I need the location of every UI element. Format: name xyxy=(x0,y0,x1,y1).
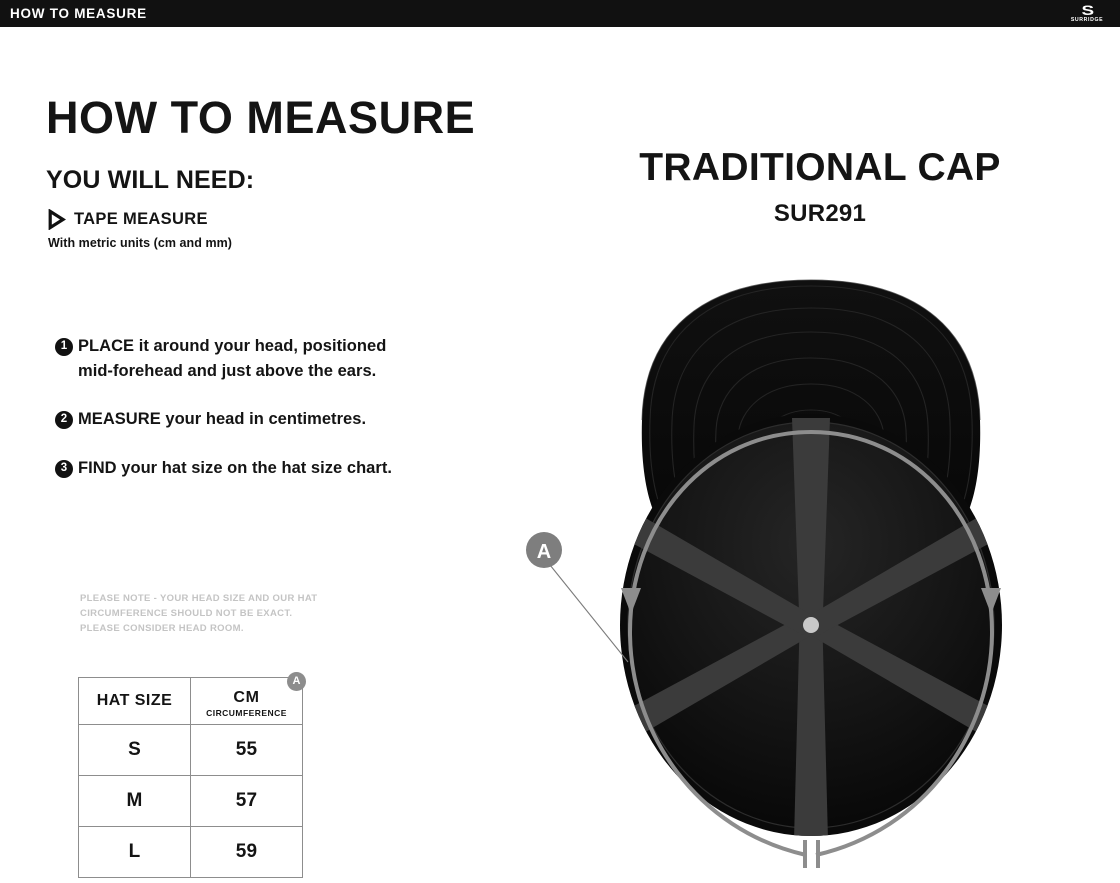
column-header-hat-size: HAT SIZE xyxy=(79,678,191,725)
table-header-row: HAT SIZE CM CIRCUMFERENCE A xyxy=(79,678,303,725)
hat-size-value: L xyxy=(129,841,141,862)
callout-leader-line xyxy=(550,565,628,662)
cell-hat-size: L xyxy=(79,827,191,878)
callout-a: A xyxy=(526,532,628,662)
step-item: 3 FIND your hat size on the hat size cha… xyxy=(55,456,415,481)
measure-badge-a-icon: A xyxy=(287,672,306,691)
hat-size-value: S xyxy=(128,739,141,760)
need-item-subtext: With metric units (cm and mm) xyxy=(48,237,232,250)
column-header-cm-sublabel: CIRCUMFERENCE xyxy=(191,709,302,718)
cm-value: 57 xyxy=(236,790,258,811)
cell-hat-size: M xyxy=(79,776,191,827)
hat-size-value: M xyxy=(126,790,142,811)
table-row: S 55 xyxy=(79,725,303,776)
disclaimer-note: PLEASE NOTE - YOUR HEAD SIZE AND OUR HAT… xyxy=(80,592,317,636)
hat-size-chart: HAT SIZE CM CIRCUMFERENCE A S 55 M 57 xyxy=(78,677,303,878)
cell-hat-size: S xyxy=(79,725,191,776)
need-item-tape-measure: TAPE MEASURE xyxy=(47,209,208,230)
surridge-wordmark: SURRIDGE xyxy=(1071,18,1103,23)
cap-diagram: A xyxy=(500,270,1120,883)
cell-cm: 59 xyxy=(191,827,303,878)
cap-button-icon xyxy=(803,617,819,633)
play-triangle-icon xyxy=(47,209,66,230)
cell-cm: 57 xyxy=(191,776,303,827)
table-row: M 57 xyxy=(79,776,303,827)
product-name: TRADITIONAL CAP xyxy=(590,148,1050,187)
surridge-logo: S SURRIDGE xyxy=(1060,2,1114,25)
measurement-end-ticks xyxy=(805,840,818,868)
cell-cm: 55 xyxy=(191,725,303,776)
table-row: L 59 xyxy=(79,827,303,878)
step-text: FIND your hat size on the hat size chart… xyxy=(78,456,392,481)
header-title: HOW TO MEASURE xyxy=(10,7,147,21)
step-number-badge: 2 xyxy=(55,411,73,429)
steps-list: 1 PLACE it around your head, positioned … xyxy=(55,334,415,480)
callout-badge-a-label: A xyxy=(537,541,551,563)
step-text: PLACE it around your head, positioned mi… xyxy=(78,334,415,383)
step-number-badge: 3 xyxy=(55,460,73,478)
page-title: HOW TO MEASURE xyxy=(46,95,475,140)
need-item-label: TAPE MEASURE xyxy=(74,211,208,228)
app-header-bar: HOW TO MEASURE S SURRIDGE xyxy=(0,0,1120,27)
step-item: 2 MEASURE your head in centimetres. xyxy=(55,407,415,432)
cm-value: 55 xyxy=(236,739,258,760)
cm-value: 59 xyxy=(236,841,258,862)
step-item: 1 PLACE it around your head, positioned … xyxy=(55,334,415,383)
step-number-badge: 1 xyxy=(55,338,73,356)
column-header-cm-label: CM xyxy=(191,678,302,706)
step-text: MEASURE your head in centimetres. xyxy=(78,407,366,432)
product-code: SUR291 xyxy=(590,202,1050,226)
surridge-monogram-icon: S xyxy=(1081,4,1093,16)
column-header-cm-circumference: CM CIRCUMFERENCE A xyxy=(191,678,303,725)
you-will-need-heading: YOU WILL NEED: xyxy=(46,168,254,193)
